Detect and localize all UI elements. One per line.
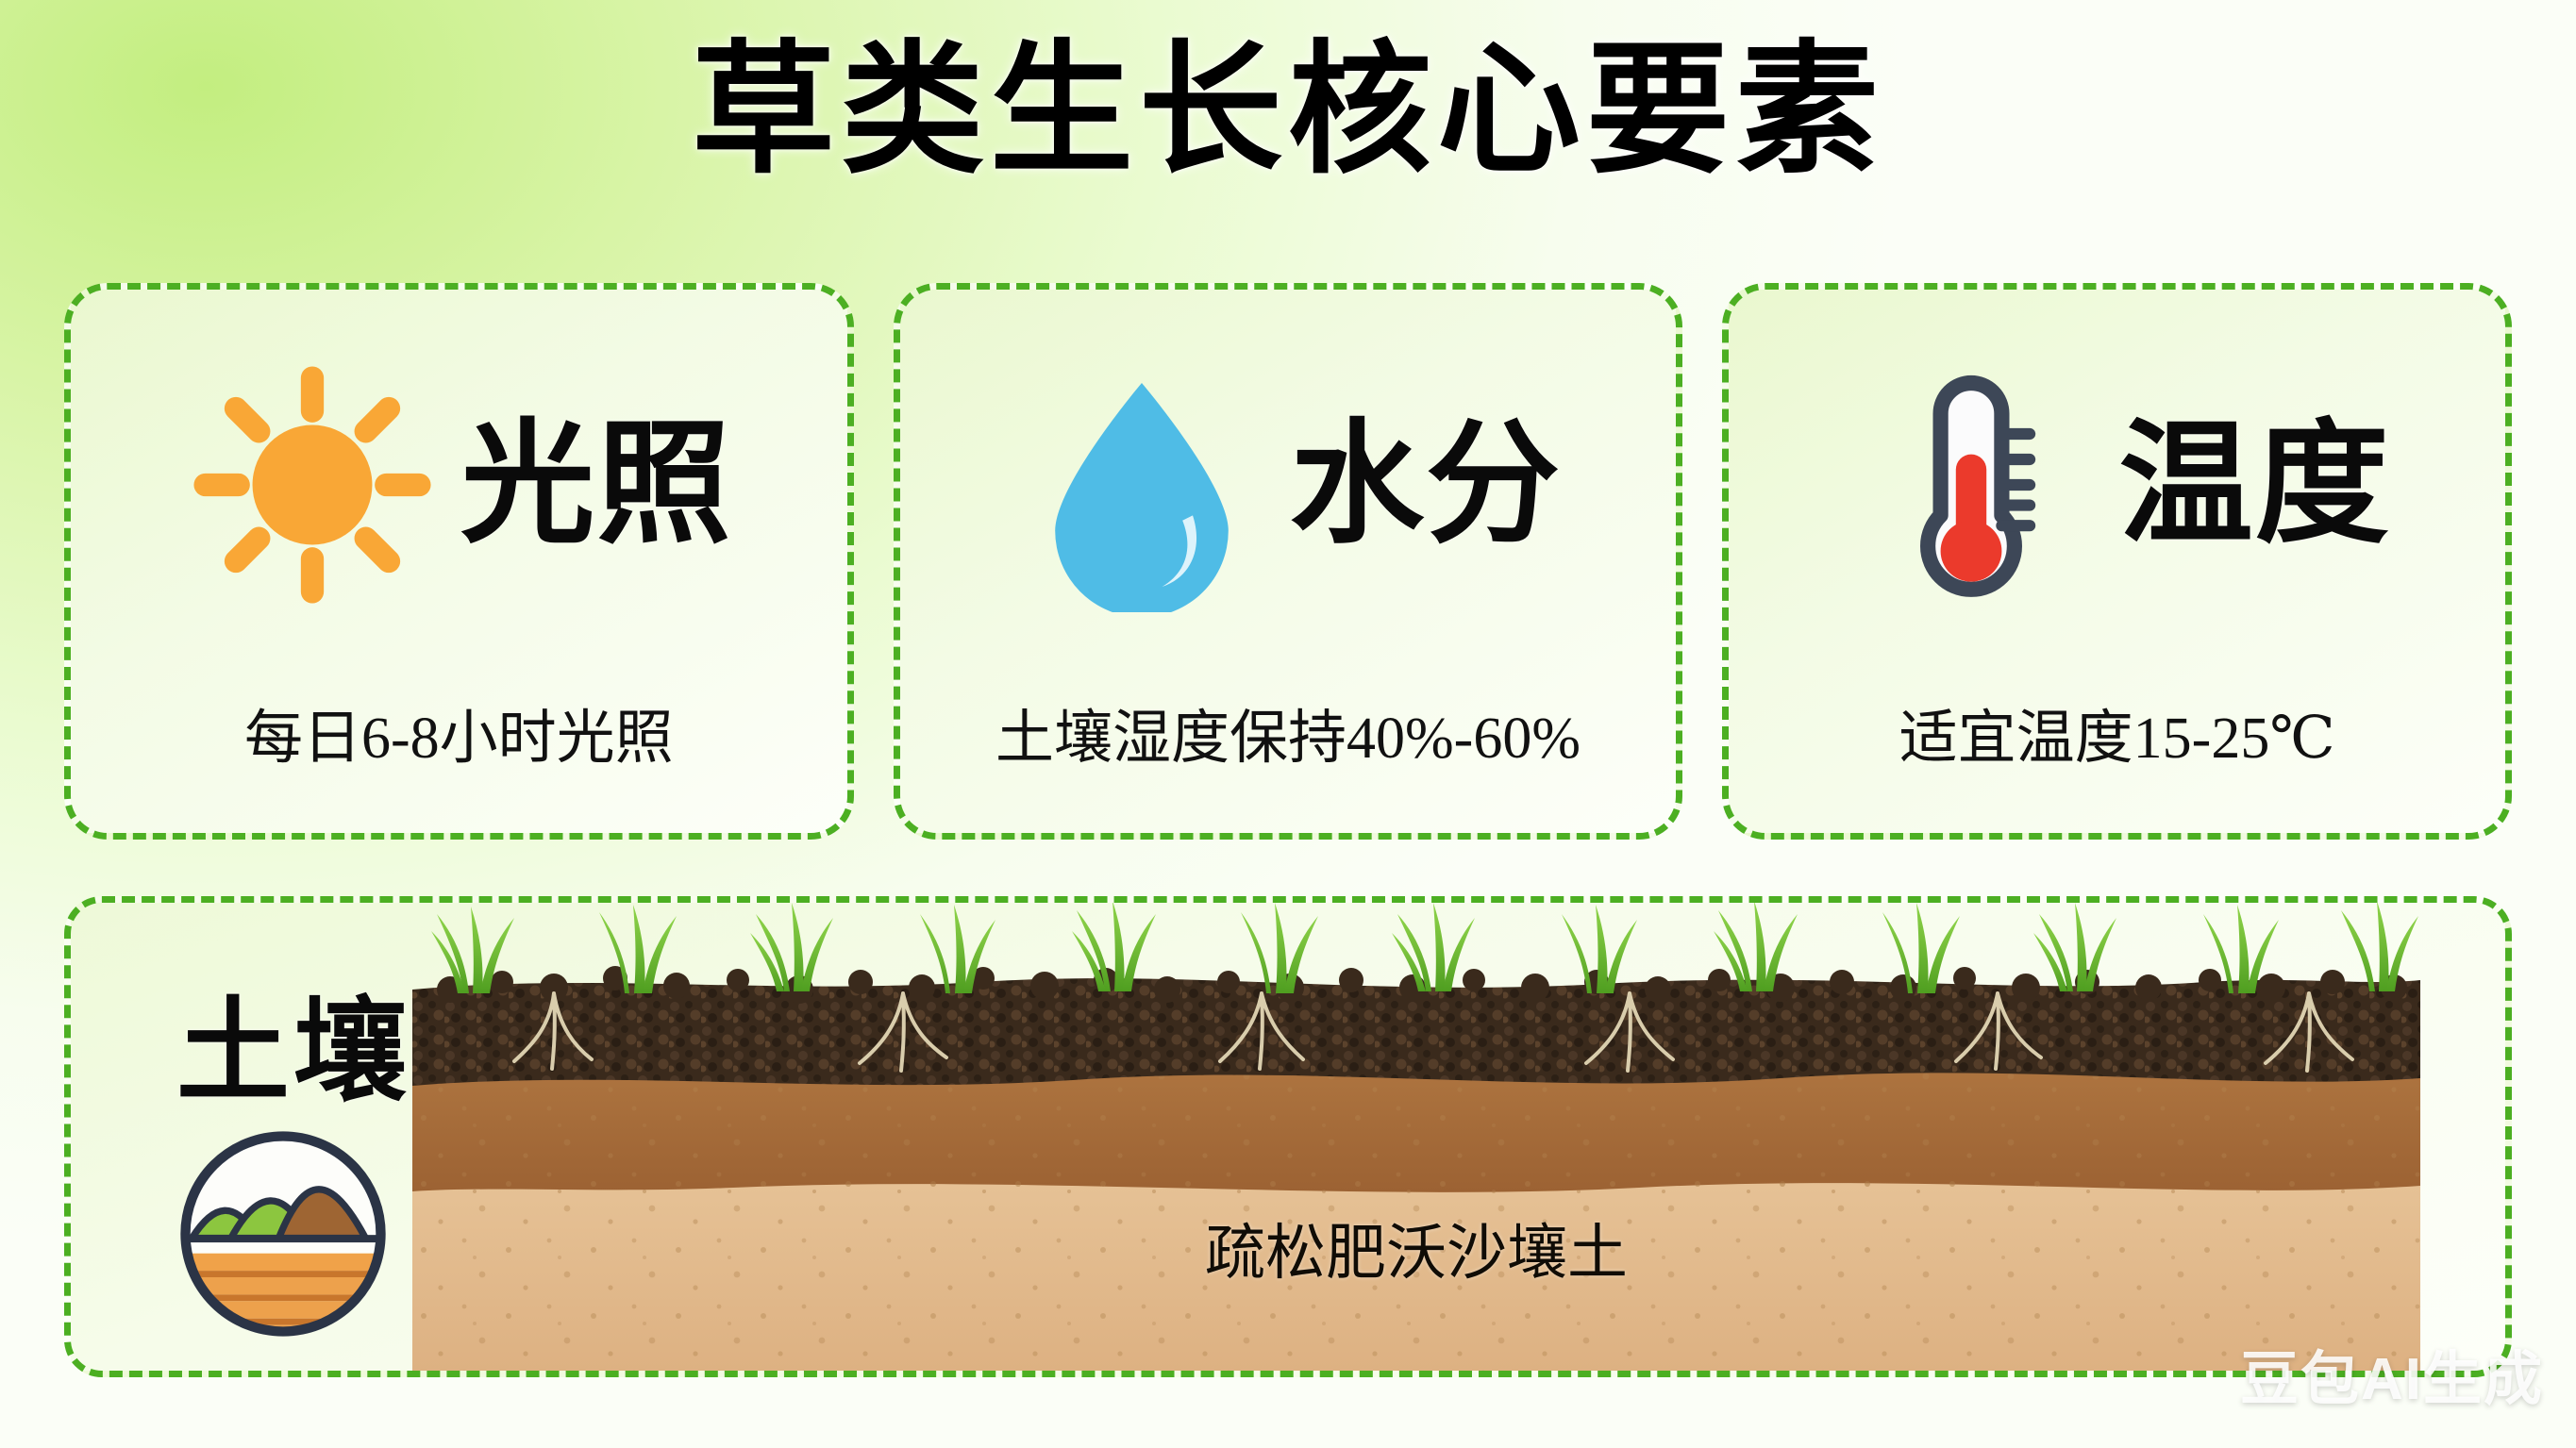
card-header: 温度 — [1729, 290, 2505, 681]
thermometer-icon — [1844, 358, 2099, 612]
factor-cards-row: 光照 每日6-8小时光照 水分 土壤湿度保持40%-60% — [64, 283, 2512, 840]
factor-card-temperature[interactable]: 温度 适宜温度15-25℃ — [1722, 283, 2512, 840]
card-title: 水分 — [1290, 418, 1562, 552]
soil-title: 土壤 — [176, 959, 410, 1123]
infographic-poster: 草类生长核心要素 — [0, 0, 2576, 1448]
factor-card-soil[interactable]: 土壤 — [64, 896, 2512, 1377]
card-header: 水分 — [900, 290, 1677, 681]
watermark: 豆包AI生成 — [2240, 1331, 2544, 1416]
card-title: 温度 — [2119, 418, 2391, 552]
card-header: 光照 — [71, 290, 847, 681]
soil-cross-section-illustration — [412, 903, 2420, 1371]
factor-card-sunlight[interactable]: 光照 每日6-8小时光照 — [64, 283, 854, 840]
water-drop-icon — [1014, 358, 1269, 612]
page-title: 草类生长核心要素 — [0, 8, 2576, 187]
soil-layers-icon — [175, 1125, 392, 1342]
factor-card-water[interactable]: 水分 土壤湿度保持40%-60% — [894, 283, 1683, 840]
card-caption: 适宜温度15-25℃ — [1729, 690, 2505, 774]
sun-icon — [185, 358, 440, 612]
card-title: 光照 — [460, 418, 732, 552]
card-caption: 每日6-8小时光照 — [71, 690, 847, 774]
card-caption: 土壤湿度保持40%-60% — [900, 690, 1677, 774]
